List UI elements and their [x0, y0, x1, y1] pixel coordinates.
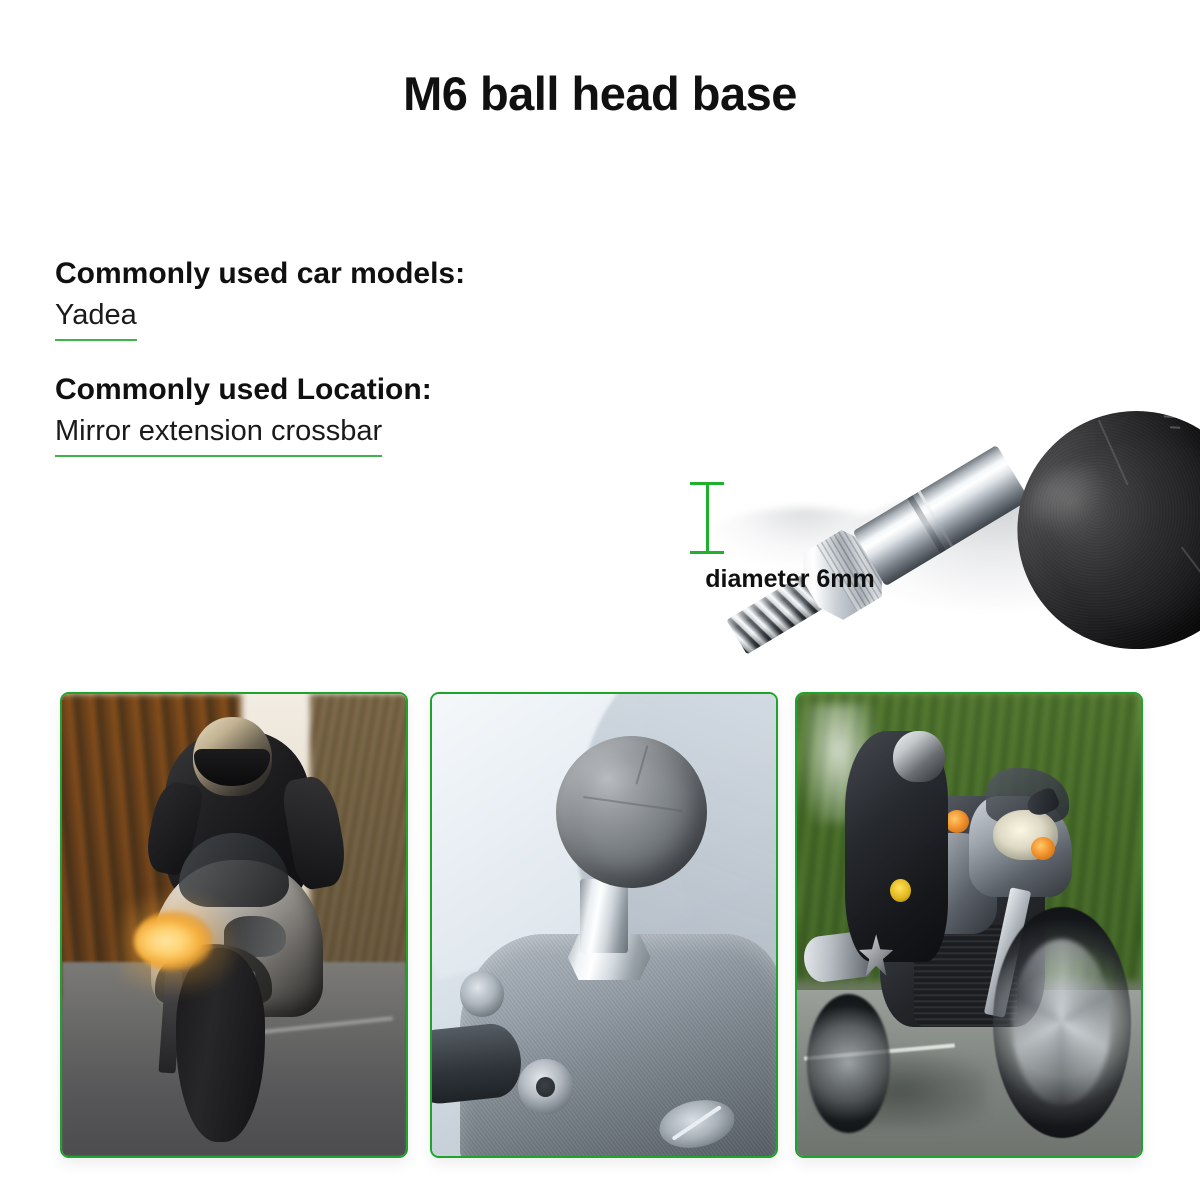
- photo-gallery: [0, 692, 1200, 1162]
- car-models-value: Yadea: [55, 297, 137, 341]
- dimension-label: diameter 6mm: [620, 565, 960, 594]
- location-heading: Commonly used Location:: [55, 371, 575, 409]
- gallery-photo-1: [60, 692, 408, 1158]
- spec-block: Commonly used car models: Yadea Commonly…: [55, 255, 575, 457]
- infographic-page: M6 ball head base Commonly used car mode…: [0, 0, 1200, 1200]
- caliper-dimension-marker-icon: [690, 482, 724, 554]
- page-title: M6 ball head base: [0, 66, 1200, 121]
- caliper-line: [706, 485, 709, 551]
- sport-motorcycle-rider-sunset-road-image: [62, 694, 406, 1156]
- spec-spacer: [55, 341, 575, 371]
- ball-head-installed-on-mirror-mount-closeup-image: [432, 694, 776, 1156]
- car-models-heading: Commonly used car models:: [55, 255, 575, 293]
- gallery-photo-2: [430, 692, 778, 1158]
- caliper-cap-bottom: [690, 551, 724, 554]
- location-value: Mirror extension crossbar: [55, 413, 382, 457]
- hero-product-image: diameter 6mm: [620, 240, 1180, 630]
- adventure-motorcycle-rider-on-road-image: [797, 694, 1141, 1156]
- gallery-photo-3: [795, 692, 1143, 1158]
